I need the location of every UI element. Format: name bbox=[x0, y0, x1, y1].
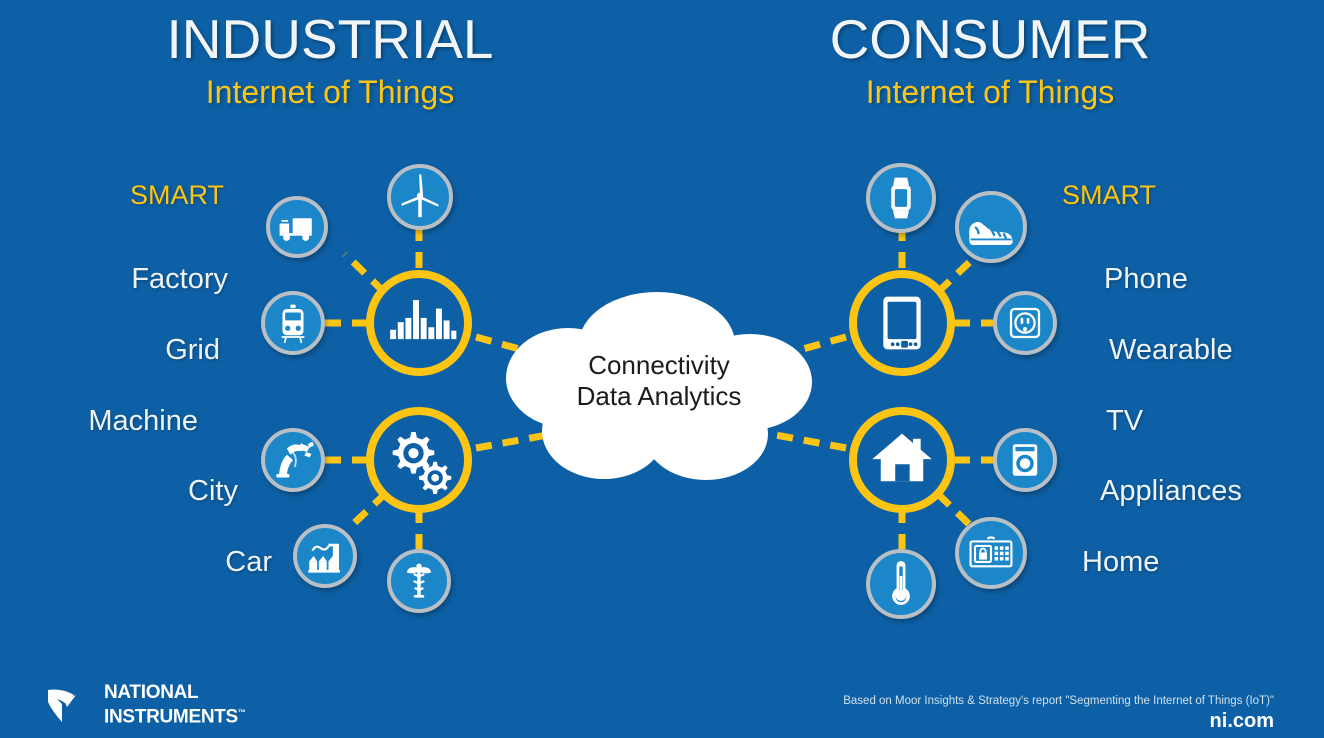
consumer-label-tv: TV bbox=[1106, 406, 1143, 436]
industrial-label-machine: Machine bbox=[88, 406, 198, 436]
bar-chart-icon bbox=[374, 278, 464, 368]
cloud-line-1: Connectivity bbox=[494, 350, 824, 381]
washing-machine-glyph bbox=[997, 432, 1053, 488]
industrial-label-car: Car bbox=[225, 547, 272, 577]
industrial-label-grid: Grid bbox=[165, 335, 220, 365]
consumer-title-block: CONSUMER Internet of Things bbox=[700, 8, 1280, 112]
thermometer-icon[interactable] bbox=[866, 549, 936, 619]
consumer-smart-label: SMART bbox=[1062, 180, 1156, 210]
phone-hub[interactable] bbox=[849, 270, 955, 376]
industrial-subtitle: Internet of Things bbox=[40, 72, 620, 112]
security-keypad-icon[interactable] bbox=[955, 517, 1027, 589]
consumer-labels: SMART Phone Wearable TV Appliances Home bbox=[1062, 180, 1282, 580]
consumer-subtitle: Internet of Things bbox=[700, 72, 1280, 112]
industrial-title-block: INDUSTRIAL Internet of Things bbox=[40, 8, 620, 112]
consumer-label-phone: Phone bbox=[1104, 264, 1188, 294]
consumer-label-appliances: Appliances bbox=[1100, 476, 1242, 506]
security-keypad-glyph bbox=[959, 521, 1023, 585]
smartwatch-icon[interactable] bbox=[866, 163, 936, 233]
factory-icon[interactable] bbox=[293, 524, 357, 588]
power-outlet-glyph bbox=[997, 295, 1053, 351]
gears-icon bbox=[374, 415, 464, 505]
caduceus-icon[interactable] bbox=[387, 549, 451, 613]
machinery-hub[interactable] bbox=[366, 407, 472, 513]
trademark-symbol: ™ bbox=[238, 708, 246, 717]
smartwatch-glyph bbox=[870, 167, 932, 229]
website-label: ni.com bbox=[843, 709, 1274, 733]
house-icon bbox=[857, 415, 947, 505]
consumer-label-wearable: Wearable bbox=[1109, 335, 1233, 365]
truck-glyph bbox=[270, 200, 324, 254]
cloud-label: Connectivity Data Analytics bbox=[494, 350, 824, 412]
wind-turbine-glyph bbox=[391, 168, 449, 226]
consumer-title: CONSUMER bbox=[700, 8, 1280, 70]
ni-logo-line-1: NATIONAL bbox=[104, 683, 246, 703]
tablet-icon bbox=[857, 278, 947, 368]
sneaker-icon[interactable] bbox=[955, 191, 1027, 263]
industrial-title: INDUSTRIAL bbox=[40, 8, 620, 70]
robot-arm-icon[interactable] bbox=[261, 428, 325, 492]
source-attribution: Based on Moor Insights & Strategy's repo… bbox=[843, 694, 1274, 708]
factory-glyph bbox=[297, 528, 353, 584]
train-icon[interactable] bbox=[261, 291, 325, 355]
national-instruments-logo: NATIONAL INSTRUMENTS™ bbox=[44, 684, 244, 726]
train-glyph bbox=[265, 295, 321, 351]
infographic-canvas: INDUSTRIAL Internet of Things CONSUMER I… bbox=[0, 0, 1324, 738]
consumer-label-home: Home bbox=[1082, 547, 1159, 577]
truck-icon[interactable] bbox=[266, 196, 328, 258]
ni-eagle-mark bbox=[44, 684, 100, 726]
connectivity-cloud: Connectivity Data Analytics bbox=[494, 286, 824, 486]
industrial-smart-label: SMART bbox=[130, 180, 224, 210]
sneaker-glyph bbox=[959, 195, 1023, 259]
caduceus-glyph bbox=[391, 553, 447, 609]
industrial-labels: SMART Factory Grid Machine City Car bbox=[70, 180, 260, 580]
wind-turbine-icon[interactable] bbox=[387, 164, 453, 230]
home-hub[interactable] bbox=[849, 407, 955, 513]
footer-credit: Based on Moor Insights & Strategy's repo… bbox=[843, 694, 1274, 733]
cloud-line-2: Data Analytics bbox=[494, 381, 824, 412]
ni-logo-text: NATIONAL INSTRUMENTS™ bbox=[104, 683, 246, 727]
industrial-label-city: City bbox=[188, 476, 238, 506]
power-outlet-icon[interactable] bbox=[993, 291, 1057, 355]
ni-logo-line-2: INSTRUMENTS™ bbox=[104, 703, 246, 727]
washing-machine-icon[interactable] bbox=[993, 428, 1057, 492]
thermometer-glyph bbox=[870, 553, 932, 615]
analytics-hub[interactable] bbox=[366, 270, 472, 376]
industrial-label-factory: Factory bbox=[131, 264, 228, 294]
robot-arm-glyph bbox=[265, 432, 321, 488]
